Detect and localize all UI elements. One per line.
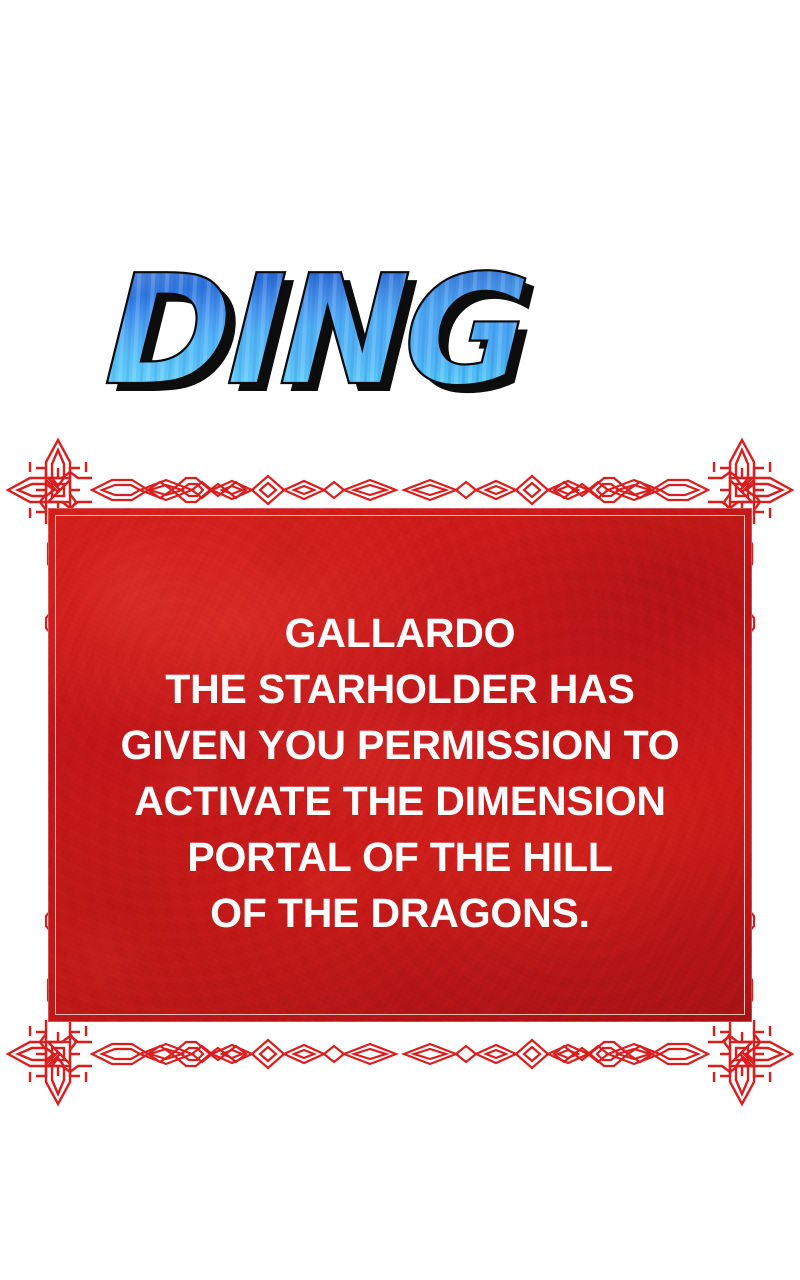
message-line-4: ACTIVATE THE DIMENSION (48, 773, 752, 829)
ding-sfx: DING DING DING DING DING (0, 225, 800, 425)
ding-sfx-shadow: DING (111, 250, 539, 427)
ding-sfx-sheen: DING (102, 242, 530, 419)
ding-sfx-stripes: DING (102, 242, 530, 419)
red-announcement-panel: GALLARDO THE STARHOLDER HAS GIVEN YOU PE… (48, 508, 752, 1022)
message-line-6: OF THE DRAGONS. (48, 885, 752, 941)
ding-sfx-body: DING (102, 242, 530, 419)
message-line-1: GALLARDO (48, 605, 752, 661)
message-line-5: PORTAL OF THE HILL (48, 829, 752, 885)
message-line-2: THE STARHOLDER HAS (48, 661, 752, 717)
sound-effect-layer: DING DING DING DING DING (0, 225, 800, 425)
ding-sfx-outline: DING (102, 242, 530, 419)
comic-page-canvas: DING DING DING DING DING (0, 0, 800, 1280)
system-message-text: GALLARDO THE STARHOLDER HAS GIVEN YOU PE… (48, 605, 752, 941)
frame-rail-top-left (140, 476, 396, 504)
frame-rail-bottom-left (140, 1040, 396, 1068)
frame-rail-top-right (404, 476, 660, 504)
frame-rail-bottom-right (404, 1040, 660, 1068)
message-line-3: GIVEN YOU PERMISSION TO (48, 717, 752, 773)
